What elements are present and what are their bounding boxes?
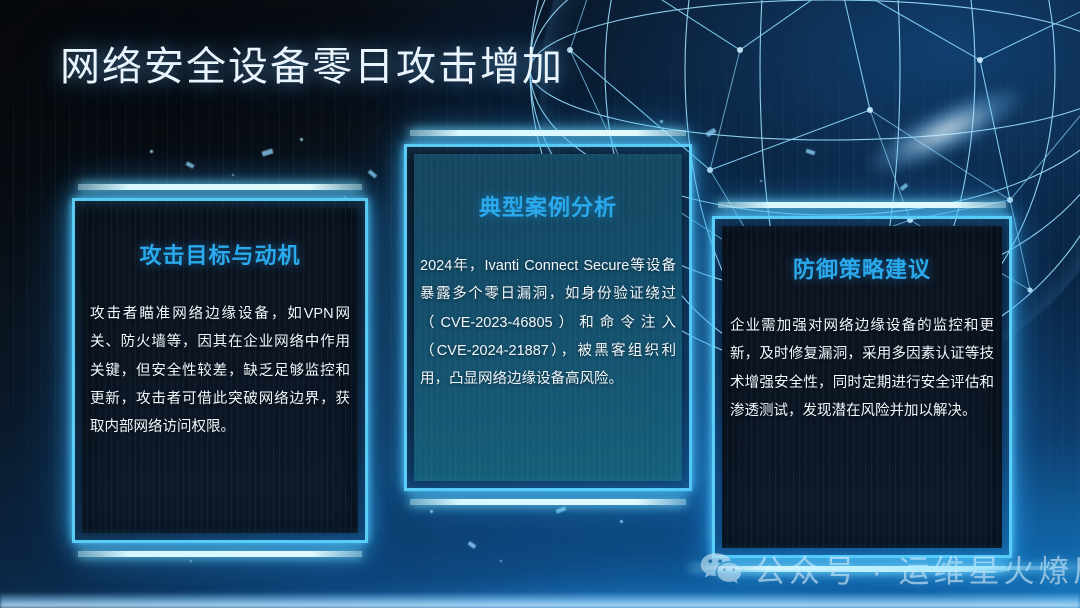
card-title: 典型案例分析 (404, 190, 692, 222)
particle (760, 180, 762, 182)
slide-canvas: 网络安全设备零日攻击增加 攻击目标与动机 攻击者瞄准网络边缘设备，如VPN网关、… (0, 0, 1080, 608)
info-card-attack-targets[interactable]: 攻击目标与动机 攻击者瞄准网络边缘设备，如VPN网关、防火墙等，因其在企业网络中… (72, 198, 368, 543)
card-body-text: 攻击者瞄准网络边缘设备，如VPN网关、防火墙等，因其在企业网络中作用关键，但安全… (90, 300, 350, 441)
particle (150, 150, 153, 153)
card-top-accent-bar (78, 184, 362, 190)
particle (660, 120, 663, 123)
card-title: 攻击目标与动机 (72, 238, 368, 270)
card-top-accent-bar (410, 130, 686, 136)
card-body-text: 企业需加强对网络边缘设备的监控和更新，及时修复漏洞，采用多因素认证等技术增强安全… (730, 312, 994, 425)
card-title: 防御策略建议 (712, 252, 1012, 284)
particle (300, 138, 303, 141)
card-body-text: 2024年，Ivanti Connect Secure等设备暴露多个零日漏洞，如… (420, 252, 676, 393)
info-card-case-analysis[interactable]: 典型案例分析 2024年，Ivanti Connect Secure等设备暴露多… (404, 144, 692, 491)
particle (232, 174, 234, 176)
card-top-accent-bar (718, 202, 1006, 208)
horizon-line (0, 592, 1080, 608)
page-title: 网络安全设备零日攻击增加 (60, 34, 564, 92)
